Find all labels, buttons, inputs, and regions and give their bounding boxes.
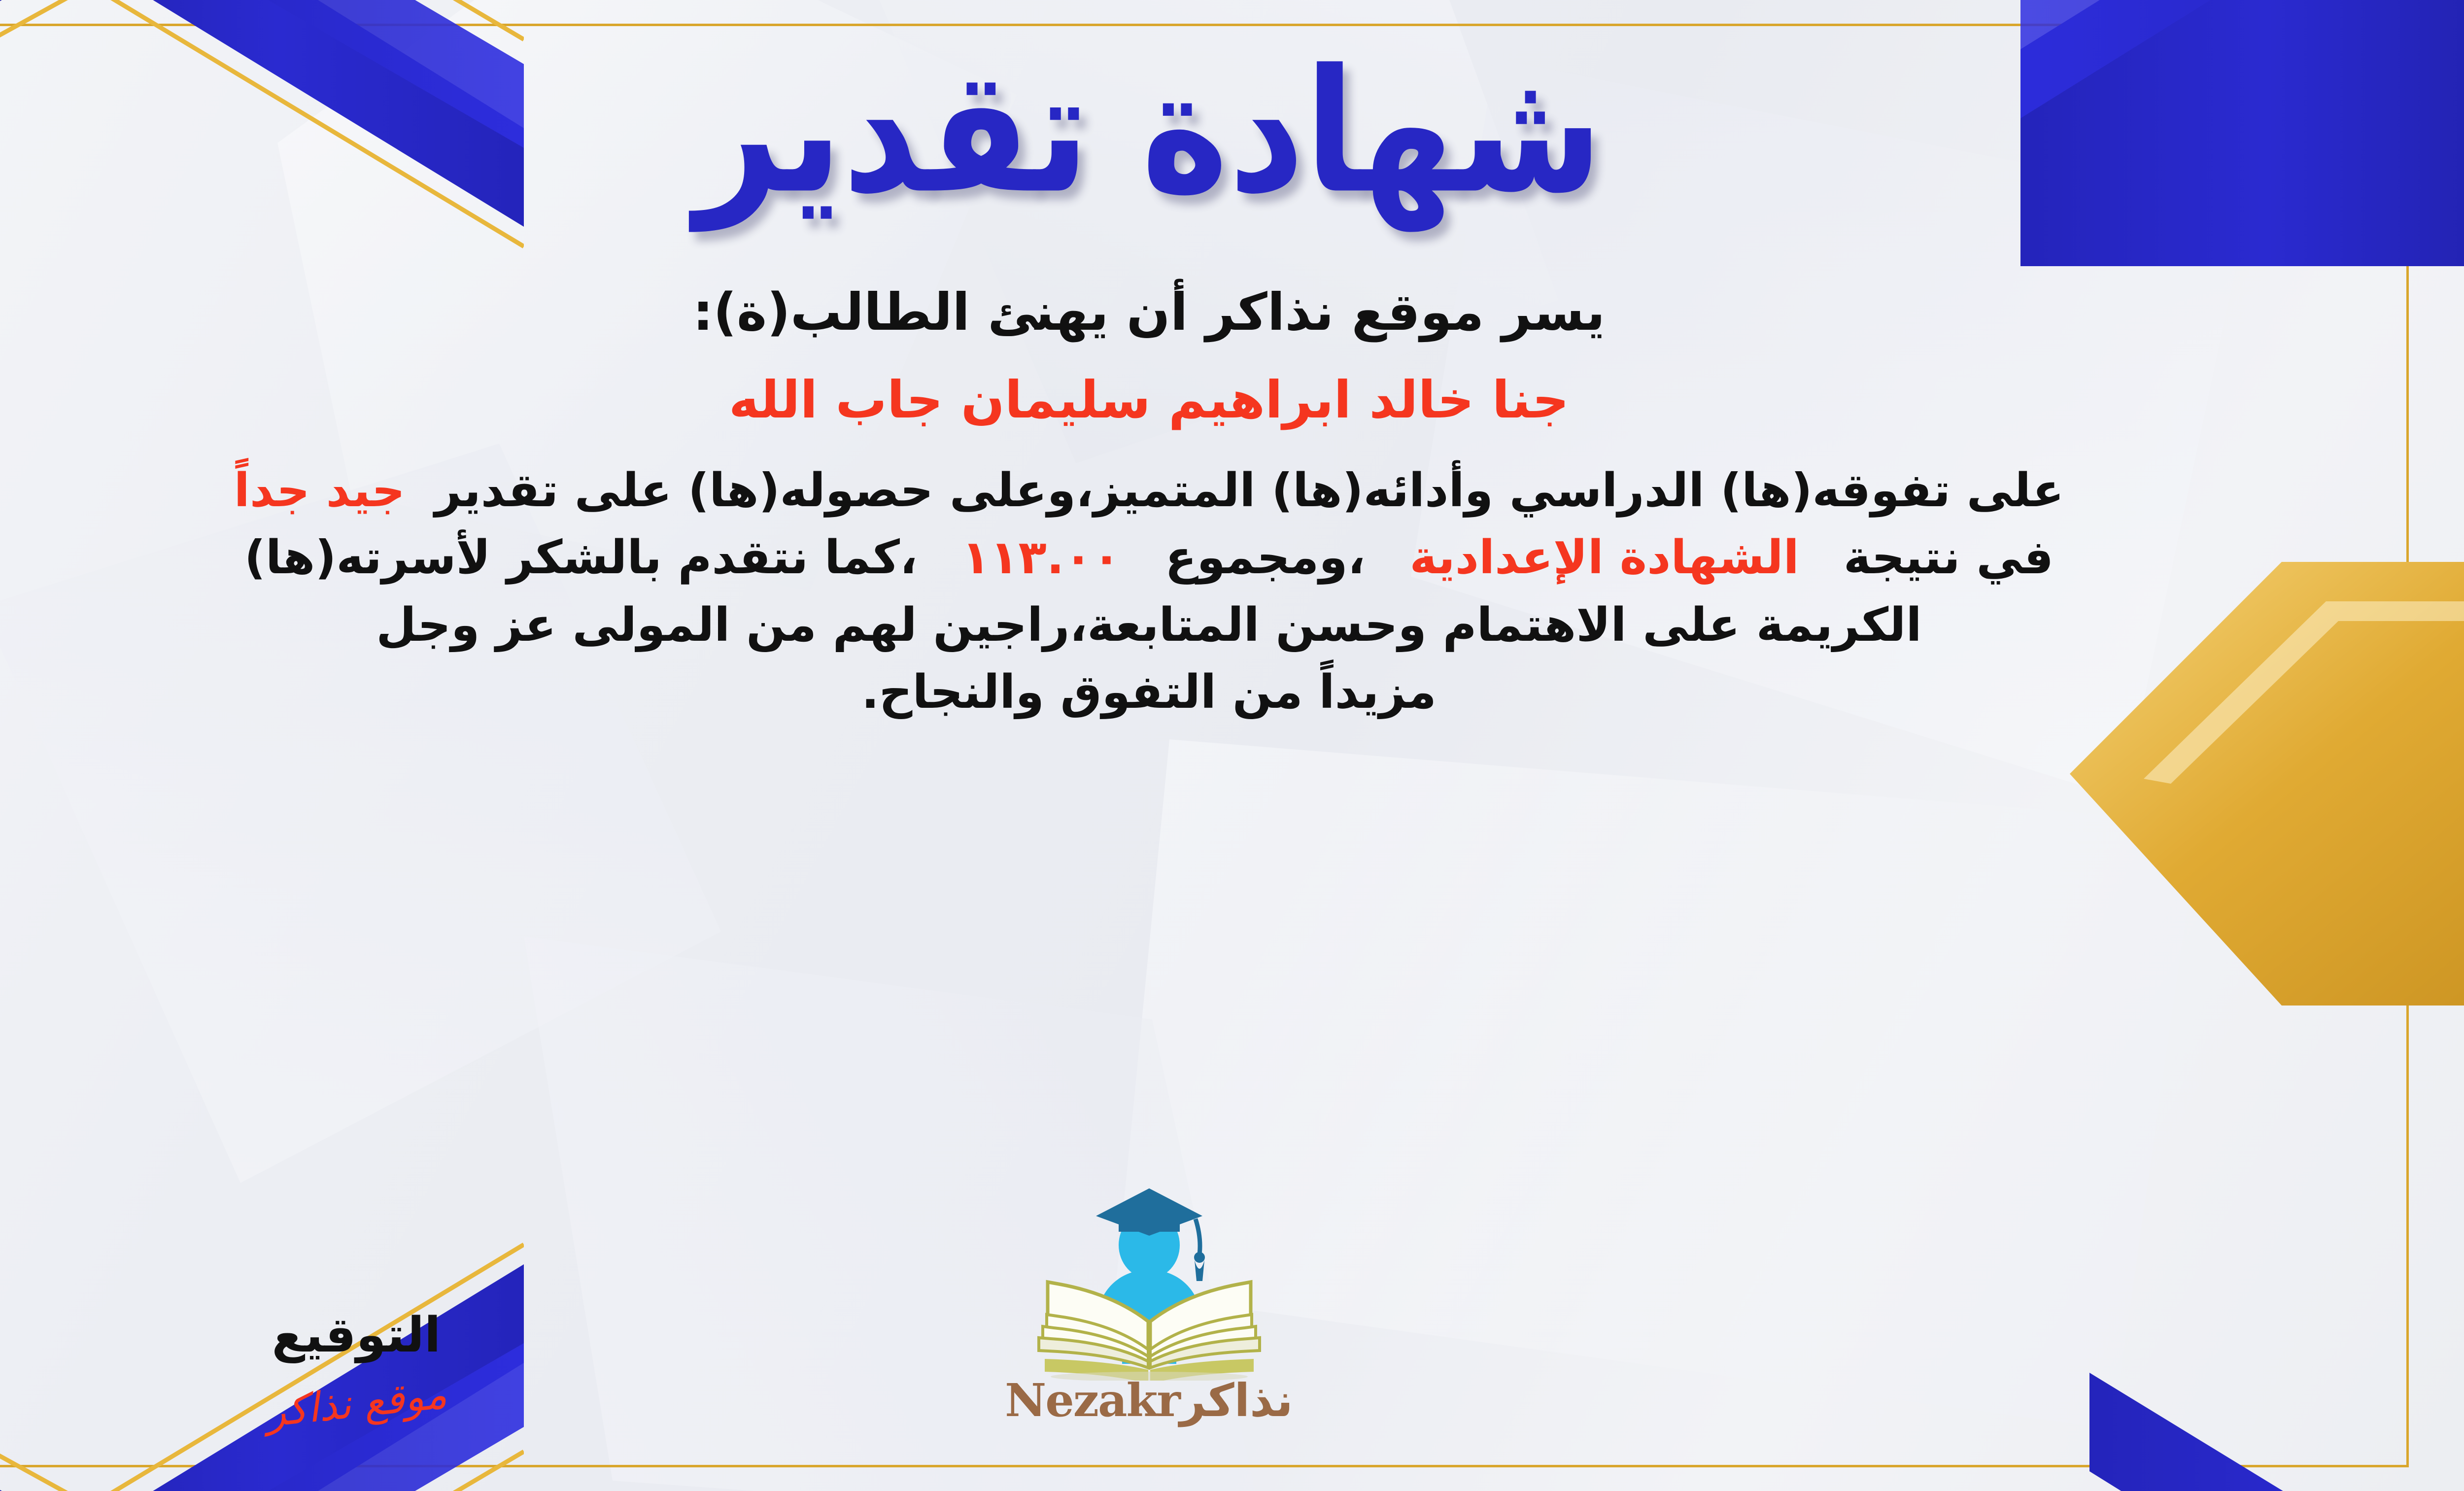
body-paragraph: على تفوقه(ها) الدراسي وأدائه(ها) المتميز… xyxy=(0,457,2307,726)
body-line-2-b: ،ومجموع xyxy=(1165,531,1365,585)
grade-value: جيد جداً xyxy=(234,464,405,518)
logo-wordmark: نذاكرNezakr xyxy=(962,1374,1336,1427)
logo-text-arabic: نذاكر xyxy=(1180,1374,1293,1427)
graduate-book-icon xyxy=(996,1183,1302,1381)
body-line-2: في نتيجةالشهادة الإعدادية،ومجموع١١٣.٠٠،ك… xyxy=(0,524,2307,591)
logo-text-latin: Nezakr xyxy=(1005,1374,1180,1427)
body-line-2-c: ،كما نتقدم بالشكر لأسرته(ها) xyxy=(244,531,918,585)
certificate-page: شهادة تقدير يسر موقع نذاكر أن يهنئ الطال… xyxy=(0,0,2464,1491)
body-line-1: على تفوقه(ها) الدراسي وأدائه(ها) المتميز… xyxy=(0,457,2307,524)
page-title: شهادة تقدير xyxy=(695,47,1603,217)
site-logo: نذاكرNezakr xyxy=(962,1183,1336,1427)
intro-line: يسر موقع نذاكر أن يهنئ الطالب(ة): xyxy=(693,280,1605,344)
student-name: جنا خالد ابراهيم سليمان جاب الله xyxy=(729,368,1569,432)
exam-name: الشهادة الإعدادية xyxy=(1409,531,1799,585)
signature-label: التوقيع xyxy=(199,1311,514,1359)
body-line-2-a: في نتيجة xyxy=(1844,531,2053,585)
body-line-3: الكريمة على الاهتمام وحسن المتابعة،راجين… xyxy=(0,592,2307,659)
total-score: ١١٣.٠٠ xyxy=(962,531,1121,585)
signature-block: التوقيع موقع نذاكر xyxy=(199,1311,514,1427)
body-line-1-text: على تفوقه(ها) الدراسي وأدائه(ها) المتميز… xyxy=(435,464,2064,518)
body-line-4: مزيداً من التفوق والنجاح. xyxy=(0,659,2307,726)
signature-mark: موقع نذاكر xyxy=(264,1371,449,1436)
